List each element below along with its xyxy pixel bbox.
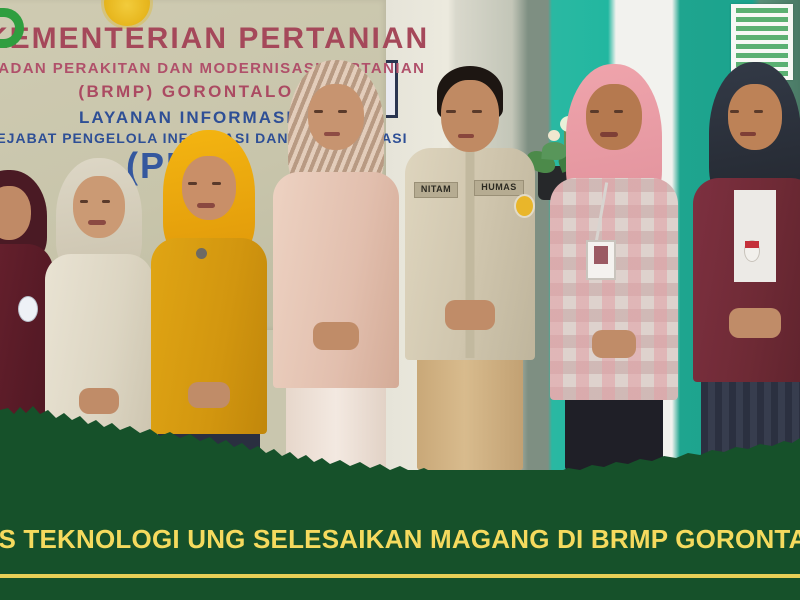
mouth <box>324 132 340 136</box>
face <box>728 84 782 150</box>
mouth <box>88 220 106 225</box>
ppid-logo-icon <box>0 8 40 70</box>
face <box>308 84 364 150</box>
torso <box>273 172 399 388</box>
uniform-patch-left: NITAM <box>414 182 458 198</box>
sleeve-emblem-icon <box>514 194 535 218</box>
headline: MAHASISWA FAKULTAS TEKNOLOGI UNG SELESAI… <box>0 526 800 552</box>
brooch-icon <box>196 248 207 259</box>
hands <box>592 330 636 358</box>
divider-rule <box>0 574 800 578</box>
torso <box>550 178 678 400</box>
backdrop-line-1: KEMENTERIAN PERTANIAN <box>0 22 386 56</box>
eye-right <box>754 110 763 113</box>
id-card <box>586 240 616 280</box>
eye-left <box>730 110 739 113</box>
mouth <box>197 203 215 208</box>
eye-right <box>212 182 221 185</box>
inner-blouse <box>734 190 776 282</box>
hands <box>313 322 359 350</box>
mouth <box>458 134 474 138</box>
eye-right <box>102 200 110 203</box>
hands <box>445 300 495 330</box>
uniform-patch-right: HUMAS <box>474 180 524 196</box>
eye-right <box>472 110 482 113</box>
eye-right <box>338 110 347 113</box>
face <box>441 80 499 152</box>
caption-band: MAHASISWA FAKULTAS TEKNOLOGI UNG SELESAI… <box>0 470 800 600</box>
id-badge <box>744 240 760 262</box>
mouth <box>600 132 618 137</box>
face <box>586 84 642 150</box>
face <box>182 156 236 220</box>
mouth <box>740 132 756 136</box>
id-badge <box>18 296 38 322</box>
eye-left <box>590 110 599 113</box>
eye-left <box>80 200 88 203</box>
hands <box>729 308 781 338</box>
face <box>73 176 125 238</box>
eye-right <box>614 110 623 113</box>
news-card: KEMENTERIAN PERTANIAN BADAN PERAKITAN DA… <box>0 0 800 600</box>
eye-left <box>314 110 323 113</box>
eye-left <box>188 182 197 185</box>
eye-left <box>446 110 456 113</box>
